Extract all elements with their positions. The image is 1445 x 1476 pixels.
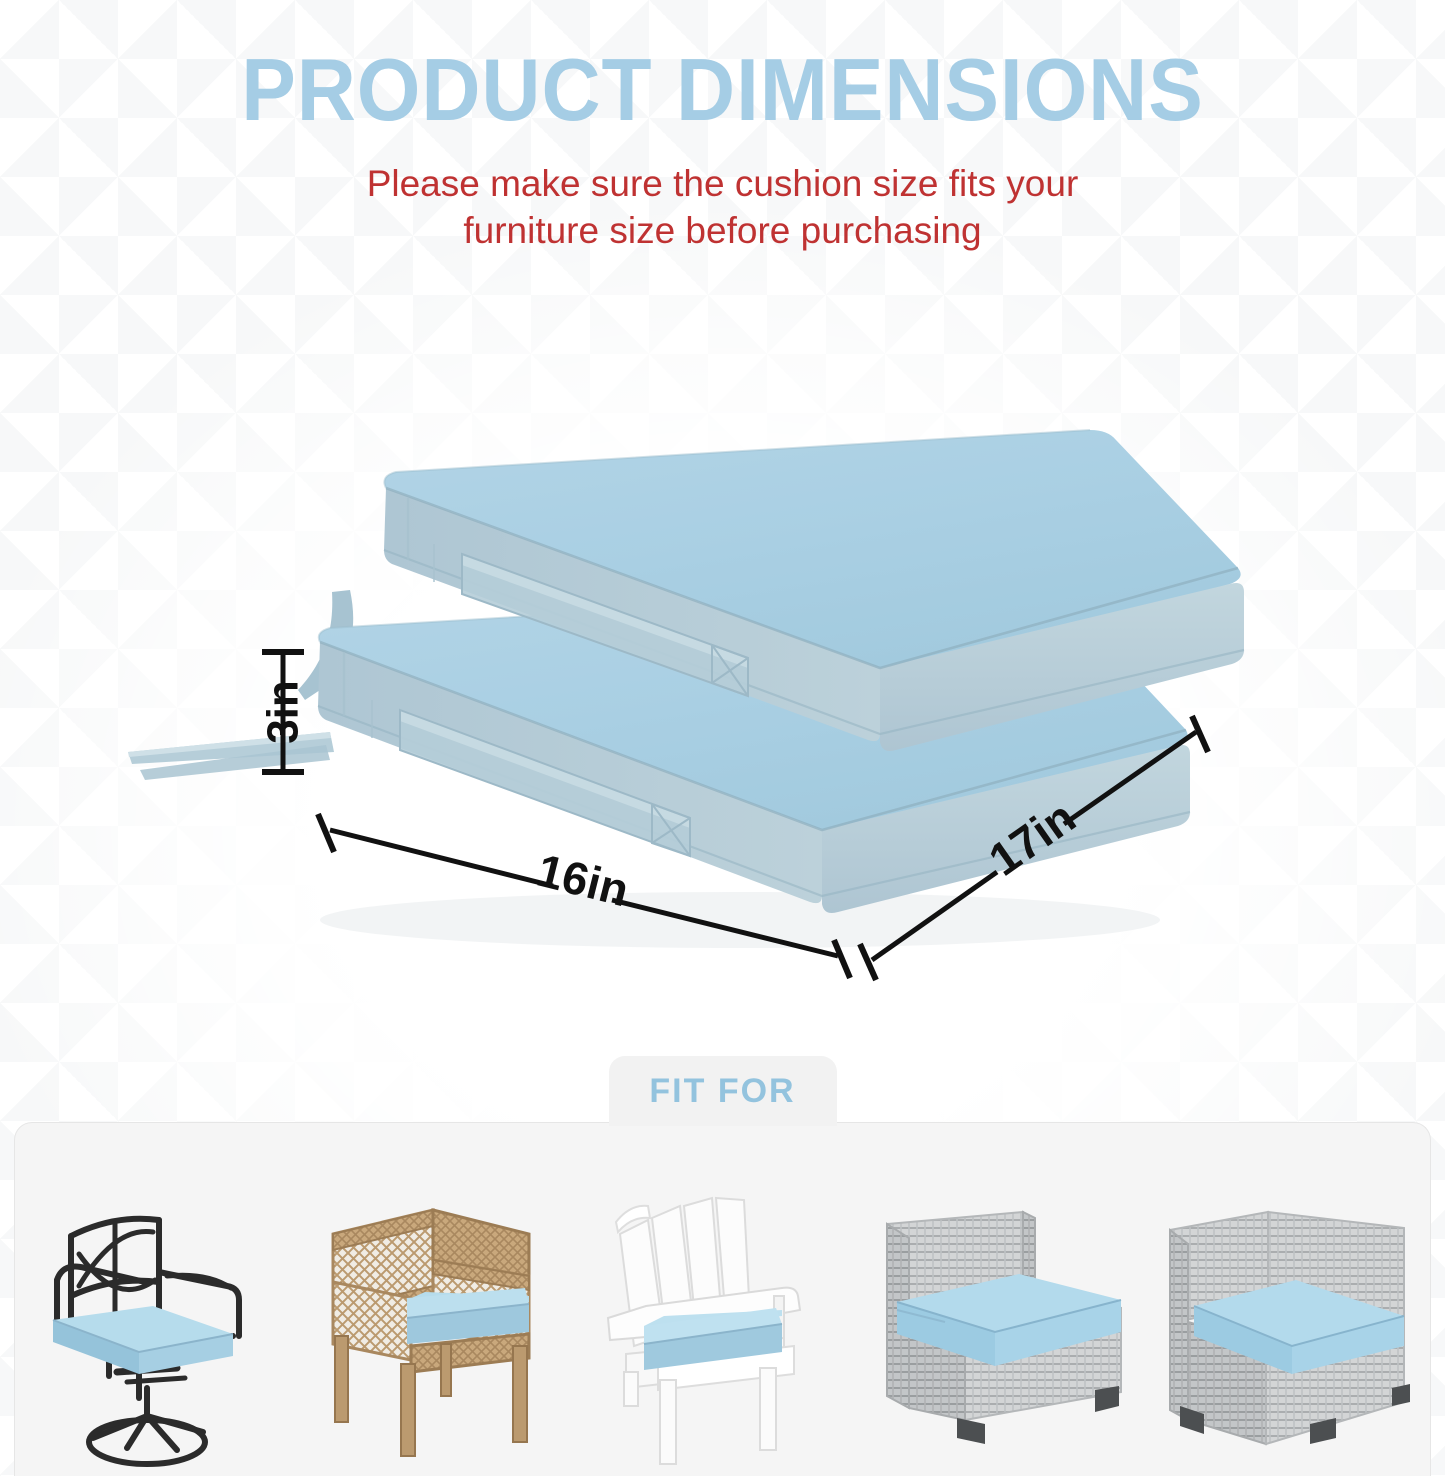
subtitle-line-1: Please make sure the cushion size fits y… bbox=[273, 160, 1173, 207]
fit-item-wicker-dining-armchair bbox=[302, 1176, 577, 1476]
fit-item-wicker-corner-sectional bbox=[1151, 1176, 1426, 1476]
subtitle: Please make sure the cushion size fits y… bbox=[273, 160, 1173, 255]
subtitle-line-2: furniture size before purchasing bbox=[273, 207, 1173, 254]
fit-for-label: FIT FOR bbox=[649, 1072, 795, 1111]
fit-item-wrought-iron-swivel-chair bbox=[19, 1176, 294, 1476]
product-dimensions-infographic: PRODUCT DIMENSIONS Please make sure the … bbox=[0, 0, 1445, 1476]
product-hero-stage: 3in 16in 17in bbox=[0, 360, 1445, 1040]
header: PRODUCT DIMENSIONS Please make sure the … bbox=[0, 0, 1445, 255]
height-dimension-label: 3in bbox=[259, 680, 308, 744]
fit-item-adirondack-chair bbox=[585, 1176, 860, 1476]
cushion-on-furniture bbox=[53, 1306, 233, 1374]
page-title: PRODUCT DIMENSIONS bbox=[51, 46, 1395, 134]
fit-for-panel bbox=[14, 1122, 1431, 1476]
cushion-illustration: 3in 16in 17in bbox=[0, 360, 1445, 1040]
fit-item-wicker-armless-sectional bbox=[868, 1176, 1143, 1476]
fit-for-tab: FIT FOR bbox=[609, 1056, 837, 1126]
